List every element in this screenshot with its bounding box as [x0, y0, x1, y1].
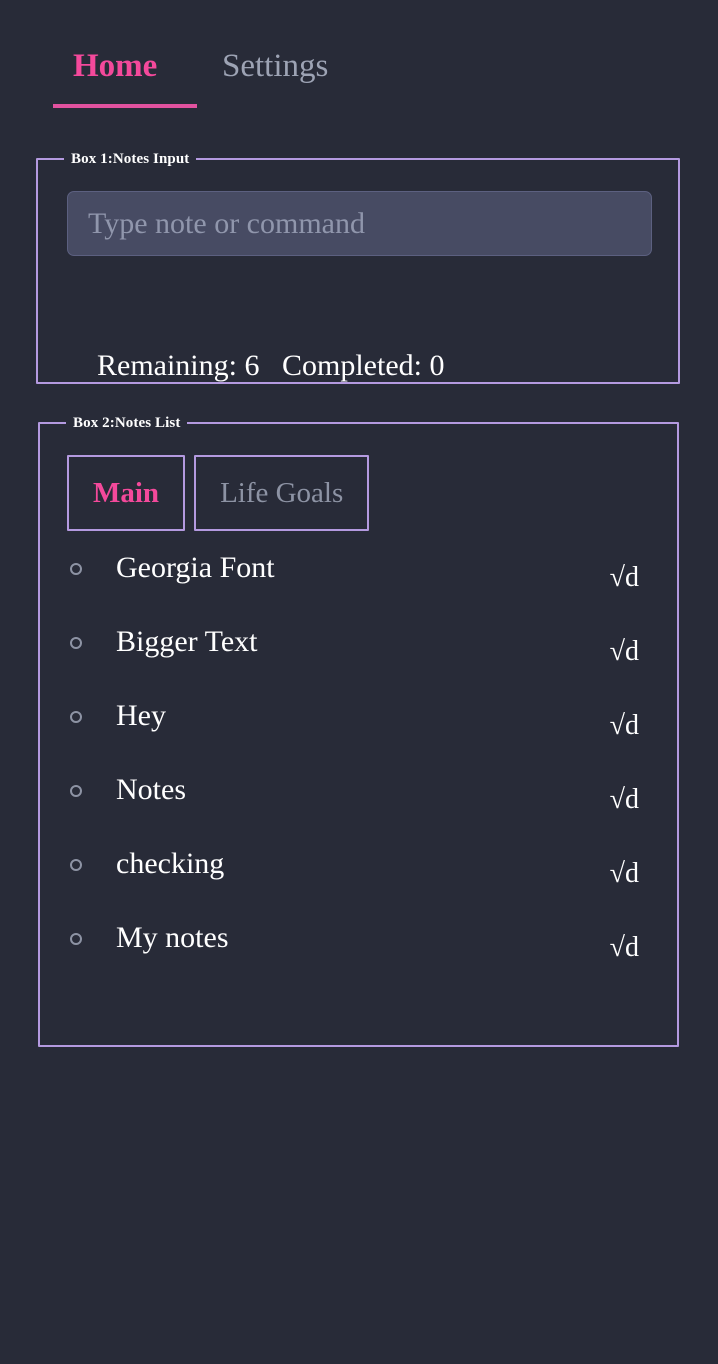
note-action-label[interactable]: √d	[610, 843, 639, 905]
notes-list-panel-legend: Box 2:Notes List	[66, 413, 187, 433]
remaining-label: Remaining:	[97, 349, 237, 382]
remaining-value: 6	[244, 349, 259, 382]
note-row[interactable]: checking √d	[40, 833, 677, 907]
note-command-input[interactable]	[67, 191, 652, 256]
active-tab-underline	[53, 104, 197, 108]
notes-list-panel: Box 2:Notes List MainLife Goals Georgia …	[38, 422, 679, 1047]
note-row[interactable]: My notes √d	[40, 907, 677, 981]
notes-list-tab-group: MainLife Goals	[67, 455, 369, 531]
circle-bullet-icon[interactable]	[70, 563, 82, 575]
circle-bullet-icon[interactable]	[70, 933, 82, 945]
completed-value: 0	[429, 349, 444, 382]
list-tab-main[interactable]: Main	[67, 455, 185, 531]
note-label: My notes	[116, 907, 229, 969]
counts-row: Remaining: 6 Completed: 0	[67, 306, 444, 426]
note-label: checking	[116, 833, 224, 895]
notes-list: Georgia Font √d Bigger Text √d Hey √d No…	[40, 537, 677, 981]
note-action-label[interactable]: √d	[610, 547, 639, 609]
note-row[interactable]: Hey √d	[40, 685, 677, 759]
tab-settings[interactable]: Settings	[222, 44, 328, 88]
circle-bullet-icon[interactable]	[70, 859, 82, 871]
count-gap-2	[259, 349, 282, 382]
note-label: Hey	[116, 685, 166, 747]
circle-bullet-icon[interactable]	[70, 637, 82, 649]
completed-label: Completed:	[282, 349, 422, 382]
tab-home[interactable]: Home	[73, 44, 157, 88]
note-row[interactable]: Notes √d	[40, 759, 677, 833]
note-action-label[interactable]: √d	[610, 621, 639, 683]
circle-bullet-icon[interactable]	[70, 711, 82, 723]
note-label: Bigger Text	[116, 611, 258, 673]
circle-bullet-icon[interactable]	[70, 785, 82, 797]
notes-input-panel: Box 1:Notes Input Remaining: 6 Completed…	[36, 158, 680, 384]
note-action-label[interactable]: √d	[610, 695, 639, 757]
notes-input-panel-legend: Box 1:Notes Input	[64, 149, 196, 169]
main-tab-bar: Home Settings	[0, 44, 718, 114]
note-action-label[interactable]: √d	[610, 769, 639, 831]
note-row[interactable]: Georgia Font √d	[40, 537, 677, 611]
note-label: Notes	[116, 759, 186, 821]
list-tab-life-goals[interactable]: Life Goals	[194, 455, 369, 531]
note-row[interactable]: Bigger Text √d	[40, 611, 677, 685]
note-label: Georgia Font	[116, 537, 275, 599]
note-action-label[interactable]: √d	[610, 917, 639, 979]
